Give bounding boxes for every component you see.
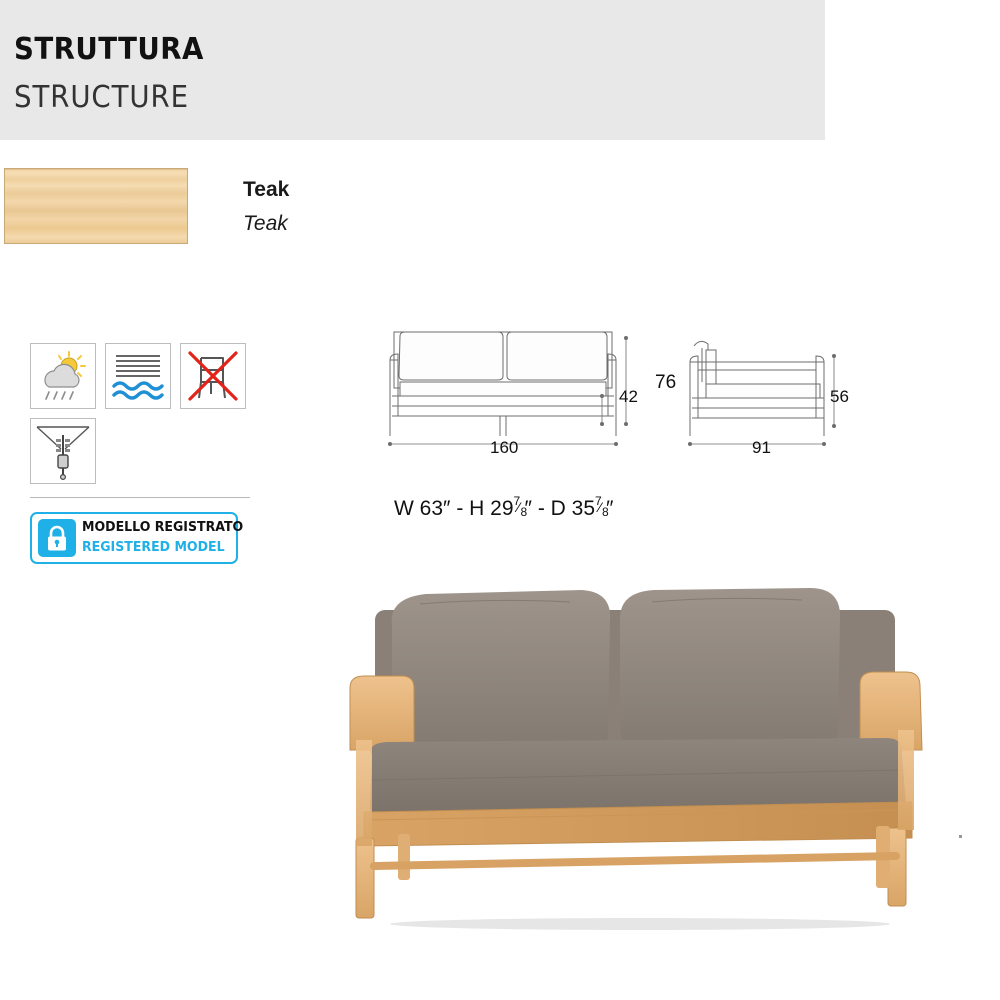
inch-mark-w: ″ — [443, 497, 450, 520]
sofa-product-photo — [320, 580, 960, 930]
imperial-d-value: 35 — [572, 497, 595, 520]
imperial-dimensions: W 63″ - H 297⁄8″ - D 357⁄8″ — [394, 497, 613, 521]
badge-label-it: MODELLO REGISTRATO — [82, 519, 243, 535]
imperial-d-frac-den: 8 — [602, 505, 609, 519]
badge-label-en: REGISTERED MODEL — [82, 539, 225, 555]
section-header: STRUTTURA STRUCTURE — [0, 0, 825, 140]
dim-front-seat-height: 42 — [619, 387, 638, 407]
page-title-en: STRUCTURE — [14, 80, 189, 115]
imperial-h-frac-den: 8 — [521, 505, 528, 519]
water-resistant-icon — [105, 343, 171, 409]
dim-front-total-height: 76 — [655, 372, 676, 394]
wood-grain-texture — [5, 169, 187, 243]
side-view — [690, 341, 824, 436]
zipper-cover-icon — [30, 418, 96, 484]
imperial-d-label: D — [551, 497, 566, 520]
teak-wood-swatch — [4, 168, 188, 244]
lock-icon — [38, 519, 76, 557]
imperial-d-fraction: 7⁄8 — [595, 498, 606, 518]
imperial-h-value: 29 — [490, 497, 513, 520]
imperial-w-value: 63 — [420, 497, 443, 520]
technical-drawings — [380, 320, 900, 470]
dim-side-height: 56 — [830, 387, 849, 407]
dim-side-depth: 91 — [752, 438, 771, 458]
weather-resistant-icon — [30, 343, 96, 409]
section-divider — [30, 497, 250, 498]
imperial-w-label: W — [394, 497, 414, 520]
page-title-it: STRUTTURA — [14, 32, 204, 67]
imperial-h-fraction: 7⁄8 — [514, 498, 525, 518]
imperial-h-label: H — [469, 497, 484, 520]
imperial-sep-1: - — [456, 497, 463, 520]
front-view — [390, 332, 616, 436]
material-name-en: Teak — [243, 212, 288, 236]
page-corner-dot — [959, 835, 962, 838]
imperial-sep-2: - — [538, 497, 545, 520]
dim-front-width: 160 — [490, 438, 518, 458]
registered-model-badge: MODELLO REGISTRATO REGISTERED MODEL — [30, 512, 238, 564]
not-stackable-icon — [180, 343, 246, 409]
material-name-it: Teak — [243, 178, 289, 202]
